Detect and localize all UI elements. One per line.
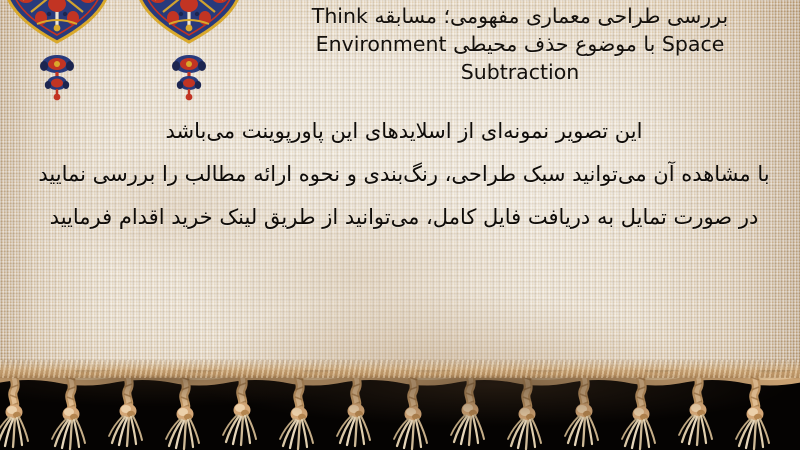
- title-line-2: Space با موضوع حذف محیطی Environment: [250, 30, 790, 58]
- body-line-2: با مشاهده آن می‌توانید سبک طراحی، رنگ‌بن…: [20, 153, 788, 196]
- fringe-band: [0, 370, 800, 450]
- body-line-1: این تصویر نمونه‌ای از اسلایدهای این پاور…: [20, 110, 788, 153]
- slide-canvas: بررسی طراحی معماری مفهومی؛ مسابقه Think …: [0, 0, 800, 450]
- fabric-selvedge-weave: [0, 360, 800, 378]
- tassel-fringe-group: [0, 370, 800, 450]
- slide-title: بررسی طراحی معماری مفهومی؛ مسابقه Think …: [250, 2, 790, 86]
- title-line-1: بررسی طراحی معماری مفهومی؛ مسابقه Think: [250, 2, 790, 30]
- title-line-3: Subtraction: [250, 58, 790, 86]
- body-line-3: در صورت تمایل به دریافت فایل کامل، می‌تو…: [20, 196, 788, 239]
- slide-body: این تصویر نمونه‌ای از اسلایدهای این پاور…: [20, 110, 788, 239]
